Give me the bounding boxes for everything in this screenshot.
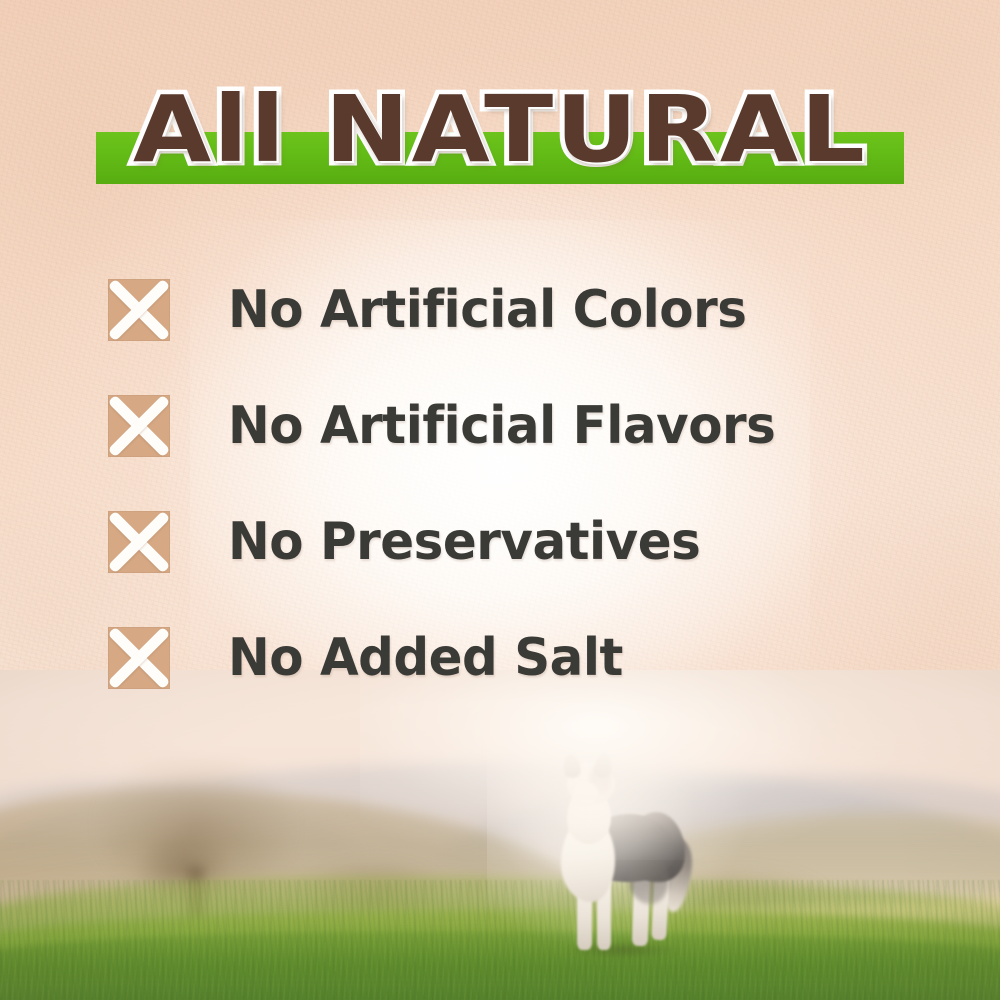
list-item: No Artificial Flavors (108, 368, 928, 484)
list-item-label: No Preservatives (228, 513, 700, 571)
page-title: All NATURAL (0, 78, 1000, 182)
list-item: No Added Salt (108, 600, 928, 716)
dog-haunch (629, 856, 669, 904)
list-item-label: No Added Salt (228, 629, 623, 687)
dog (533, 756, 703, 956)
headline-block: All NATURAL (0, 78, 1000, 190)
x-mark-icon (108, 627, 170, 689)
x-mark-icon (108, 511, 170, 573)
all-natural-poster: All NATURAL No Artificial Colors No Arti… (0, 0, 1000, 1000)
list-item: No Preservatives (108, 484, 928, 600)
list-item-label: No Artificial Colors (228, 281, 746, 339)
benefits-list: No Artificial Colors No Artificial Flavo… (108, 252, 928, 716)
list-item: No Artificial Colors (108, 252, 928, 368)
meadow-photograph (0, 670, 1000, 1000)
list-item-label: No Artificial Flavors (228, 397, 775, 455)
x-mark-icon (108, 279, 170, 341)
grass-texture (0, 880, 1000, 1000)
x-mark-icon (108, 395, 170, 457)
dog-muzzle (573, 782, 599, 806)
